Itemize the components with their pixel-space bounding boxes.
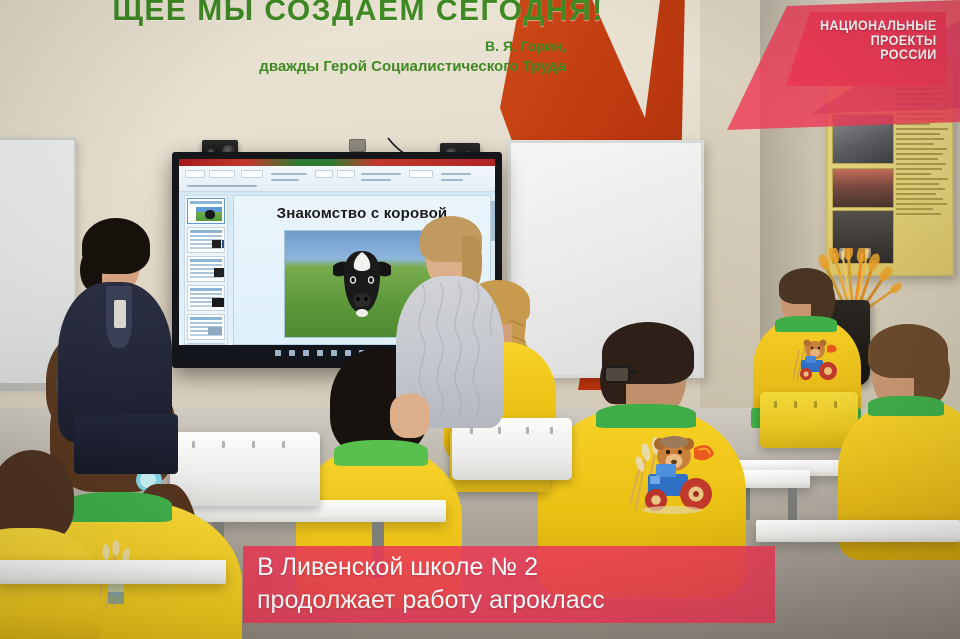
powerpoint-titlebar bbox=[179, 159, 495, 166]
desk bbox=[0, 560, 226, 584]
eyeglasses bbox=[604, 366, 630, 383]
wall-quote-main: ЩЕЕ МЫ СОЗДАЕМ СЕГОДНЯ! bbox=[28, 0, 688, 28]
slide-thumbnail[interactable] bbox=[187, 198, 225, 224]
logo-line-2: ПРОЕКТЫ bbox=[820, 33, 937, 48]
necklace-pendant bbox=[114, 300, 126, 328]
logo-line-1: НАЦИОНАЛЬНЫЕ bbox=[820, 18, 937, 33]
wall-poster: офер bbox=[826, 58, 954, 276]
slide-thumbnail[interactable] bbox=[187, 314, 225, 340]
cow-head-icon bbox=[333, 245, 391, 319]
caption-banner: В Ливенской школе № 2 продолжает работу … bbox=[243, 546, 775, 623]
poster-photo bbox=[832, 168, 894, 208]
wall-quote-author: В. Я. Горин, bbox=[0, 38, 566, 54]
slide-thumbnail[interactable] bbox=[187, 256, 225, 282]
slide-thumbnail[interactable] bbox=[187, 285, 225, 311]
logo-text: НАЦИОНАЛЬНЫЕ ПРОЕКТЫ РОССИИ bbox=[820, 18, 937, 62]
caption-text: В Ливенской школе № 2 продолжает работу … bbox=[257, 551, 767, 617]
poster-text-column bbox=[896, 68, 948, 268]
wall-quote-author-title: дважды Герой Социалистического Труда bbox=[0, 58, 566, 75]
powerpoint-ribbon bbox=[179, 166, 495, 192]
slide-thumbnail-rail[interactable] bbox=[184, 195, 228, 345]
wall-socket bbox=[349, 139, 366, 152]
tshirt-tractor-logo bbox=[785, 336, 843, 384]
slide-thumbnail[interactable] bbox=[187, 227, 225, 253]
poster-photo bbox=[832, 114, 894, 164]
photo-scene: ЩЕЕ МЫ СОЗДАЕМ СЕГОДНЯ! В. Я. Горин, два… bbox=[0, 0, 960, 639]
caption-line-1: В Ливенской школе № 2 bbox=[257, 551, 767, 584]
chair-back bbox=[170, 432, 320, 506]
hand bbox=[390, 394, 430, 438]
caption-line-2: продолжает работу агрокласс bbox=[257, 584, 767, 617]
logo-line-3: РОССИИ bbox=[820, 47, 937, 62]
desk bbox=[756, 520, 960, 542]
national-projects-logo: НАЦИОНАЛЬНЫЕ ПРОЕКТЫ РОССИИ bbox=[786, 12, 946, 86]
